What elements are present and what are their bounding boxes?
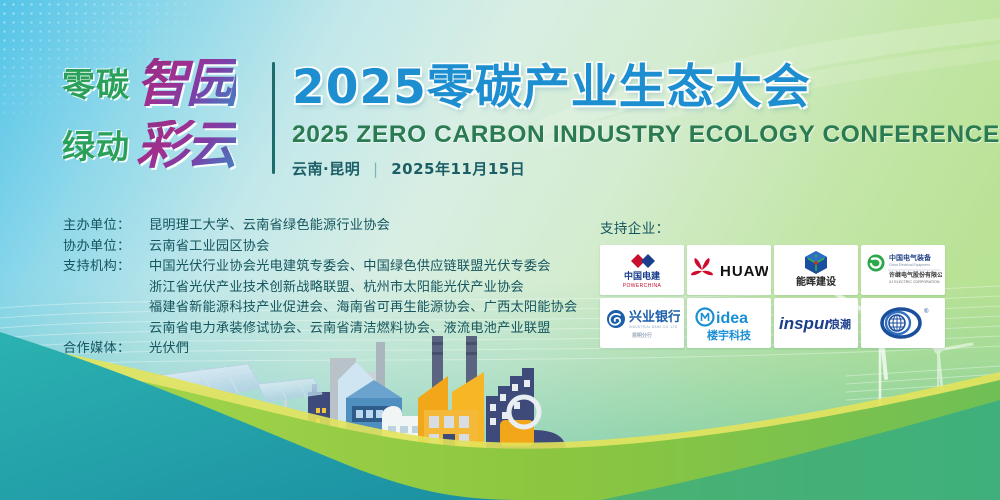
svg-text:中国电气装备: 中国电气装备 <box>889 253 932 262</box>
conference-banner: 零碳 智园 绿动 彩云 2025零碳产业生态大会 2025 ZERO CARBO… <box>0 0 1000 500</box>
info-row: 支持机构： 云南省电力承装修试协会、云南省清洁燃料协会、液流电池产业联盟 <box>63 319 583 340</box>
svg-text:China Electrical Equipment: China Electrical Equipment <box>889 263 930 267</box>
calligraphy-line2-green: 绿动 <box>62 130 130 163</box>
svg-text:idea: idea <box>716 310 748 327</box>
info-label: 合作媒体： <box>63 339 149 360</box>
svg-text:POWERCHINA: POWERCHINA <box>623 283 662 289</box>
info-label: 主办单位： <box>63 216 149 237</box>
event-location: 云南·昆明 <box>292 160 360 178</box>
sponsor-logo-china-electric-equipment[interactable]: 中国电气装备 China Electrical Equipment 许继电气股份… <box>861 245 945 295</box>
sponsor-logo-midea-building-tech[interactable]: idea 楼宇科技 <box>687 298 771 348</box>
meta-separator: | <box>373 160 379 178</box>
event-date: 2025年11月15日 <box>391 160 525 178</box>
svg-text:楼宇科技: 楼宇科技 <box>707 328 752 342</box>
info-value: 云南省电力承装修试协会、云南省清洁燃料协会、液流电池产业联盟 <box>149 319 551 340</box>
globe-brand-icon: ® <box>871 302 935 344</box>
sponsor-logo-nenghui-construction[interactable]: 能晖建设 <box>774 245 858 295</box>
svg-text:昆明分行: 昆明分行 <box>632 332 652 339</box>
svg-text:XJ ELECTRIC CORPORATION: XJ ELECTRIC CORPORATION <box>889 280 940 284</box>
inspur-icon: inspur 浪潮 <box>777 311 855 335</box>
sponsor-logo-globe-brand[interactable]: ® <box>861 298 945 348</box>
sponsor-logo-inspur[interactable]: inspur 浪潮 <box>774 298 858 348</box>
sponsor-logo-grid: 中国电建 POWERCHINA HUAWEI <box>600 245 950 348</box>
title-block: 2025零碳产业生态大会 2025 ZERO CARBON INDUSTRY E… <box>292 62 1000 179</box>
nenghui-icon: 能晖建设 <box>785 248 847 292</box>
industrial-bank-icon: 兴业银行 INDUSTRIAL BANK CO.,LTD 昆明分行 <box>604 303 680 343</box>
title-chinese: 2025零碳产业生态大会 <box>292 62 1000 114</box>
midea-icon: idea 楼宇科技 <box>692 302 766 344</box>
svg-text:中国电建: 中国电建 <box>624 270 661 282</box>
info-value: 福建省新能源科技产业促进会、海南省可再生能源协会、广西太阳能协会 <box>149 298 577 319</box>
event-meta: 云南·昆明 | 2025年11月15日 <box>292 158 1000 179</box>
sponsors-section: 支持企业： 中国电建 POWERCHINA <box>600 217 950 348</box>
svg-text:许继电气股份有限公司: 许继电气股份有限公司 <box>889 271 942 279</box>
info-value: 中国光伏行业协会光电建筑专委会、中国绿色供应链联盟光伏专委会 <box>149 257 551 278</box>
calligraphy-line2-color: 彩云 <box>136 120 236 172</box>
calligraphy-line1-color: 智园 <box>136 58 236 110</box>
sponsor-logo-industrial-bank[interactable]: 兴业银行 INDUSTRIAL BANK CO.,LTD 昆明分行 <box>600 298 684 348</box>
china-electric-equipment-icon: 中国电气装备 China Electrical Equipment 许继电气股份… <box>864 250 942 290</box>
sponsor-logo-huawei[interactable]: HUAWEI <box>687 245 771 295</box>
svg-text:®: ® <box>924 308 929 315</box>
info-value: 浙江省光伏产业技术创新战略联盟、杭州市太阳能光伏产业协会 <box>149 278 524 299</box>
organizer-info: 主办单位： 昆明理工大学、云南省绿色能源行业协会 协办单位： 云南省工业园区协会… <box>63 216 583 360</box>
info-label: 支持机构： <box>63 257 149 278</box>
svg-text:HUAWEI: HUAWEI <box>720 263 768 280</box>
huawei-icon: HUAWEI <box>690 256 768 284</box>
sponsor-logo-powerchina[interactable]: 中国电建 POWERCHINA <box>600 245 684 295</box>
info-row: 合作媒体： 光伏們 <box>63 339 583 360</box>
info-row: 支持机构： 浙江省光伏产业技术创新战略联盟、杭州市太阳能光伏产业协会 <box>63 278 583 299</box>
title-divider <box>272 62 275 174</box>
calligraphy-logo: 零碳 智园 绿动 彩云 <box>62 58 262 188</box>
info-row: 支持机构： 中国光伏行业协会光电建筑专委会、中国绿色供应链联盟光伏专委会 <box>63 257 583 278</box>
title-english: 2025 ZERO CARBON INDUSTRY ECOLOGY CONFER… <box>292 121 1000 149</box>
svg-text:inspur: inspur <box>779 314 832 333</box>
powerchina-icon: 中国电建 POWERCHINA <box>606 248 678 292</box>
info-label: 协办单位： <box>63 237 149 258</box>
svg-text:INDUSTRIAL BANK CO.,LTD: INDUSTRIAL BANK CO.,LTD <box>629 325 678 329</box>
info-row: 支持机构： 福建省新能源科技产业促进会、海南省可再生能源协会、广西太阳能协会 <box>63 298 583 319</box>
info-value: 云南省工业园区协会 <box>149 237 270 258</box>
sponsors-heading: 支持企业： <box>600 217 950 237</box>
svg-text:能晖建设: 能晖建设 <box>796 275 836 288</box>
svg-text:兴业银行: 兴业银行 <box>629 309 680 325</box>
svg-text:浪潮: 浪潮 <box>829 317 851 331</box>
info-row: 协办单位： 云南省工业园区协会 <box>63 237 583 258</box>
info-value: 昆明理工大学、云南省绿色能源行业协会 <box>149 216 390 237</box>
calligraphy-line1-green: 零碳 <box>62 68 130 101</box>
info-value: 光伏們 <box>149 339 189 360</box>
info-row: 主办单位： 昆明理工大学、云南省绿色能源行业协会 <box>63 216 583 237</box>
